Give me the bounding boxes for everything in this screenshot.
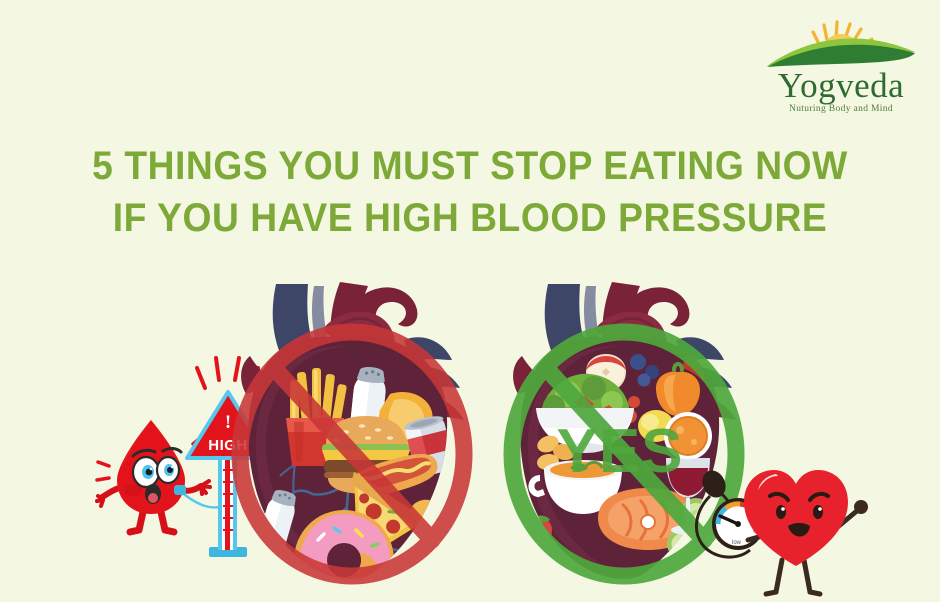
- happy-heart-character: high low: [688, 452, 873, 602]
- headline-line-2: IF YOU HAVE HIGH BLOOD PRESSURE: [33, 192, 907, 244]
- illustration-area: ! HIGH: [0, 262, 940, 602]
- brand-tagline: Nuturing Body and Mind: [755, 104, 927, 114]
- headline-line-1: 5 THINGS YOU MUST STOP EATING NOW: [33, 140, 907, 192]
- sunrise-over-hill-icon: [755, 22, 927, 70]
- heart-with-junk-food: [228, 276, 468, 592]
- page-title: 5 THINGS YOU MUST STOP EATING NOW IF YOU…: [0, 140, 940, 244]
- brand-logo[interactable]: Yogveda Nuturing Body and Mind: [755, 22, 927, 114]
- poster-canvas: Yogveda Nuturing Body and Mind 5 THINGS …: [0, 0, 940, 602]
- brand-name: Yogveda: [755, 68, 927, 103]
- gauge-low-label: low: [732, 540, 742, 546]
